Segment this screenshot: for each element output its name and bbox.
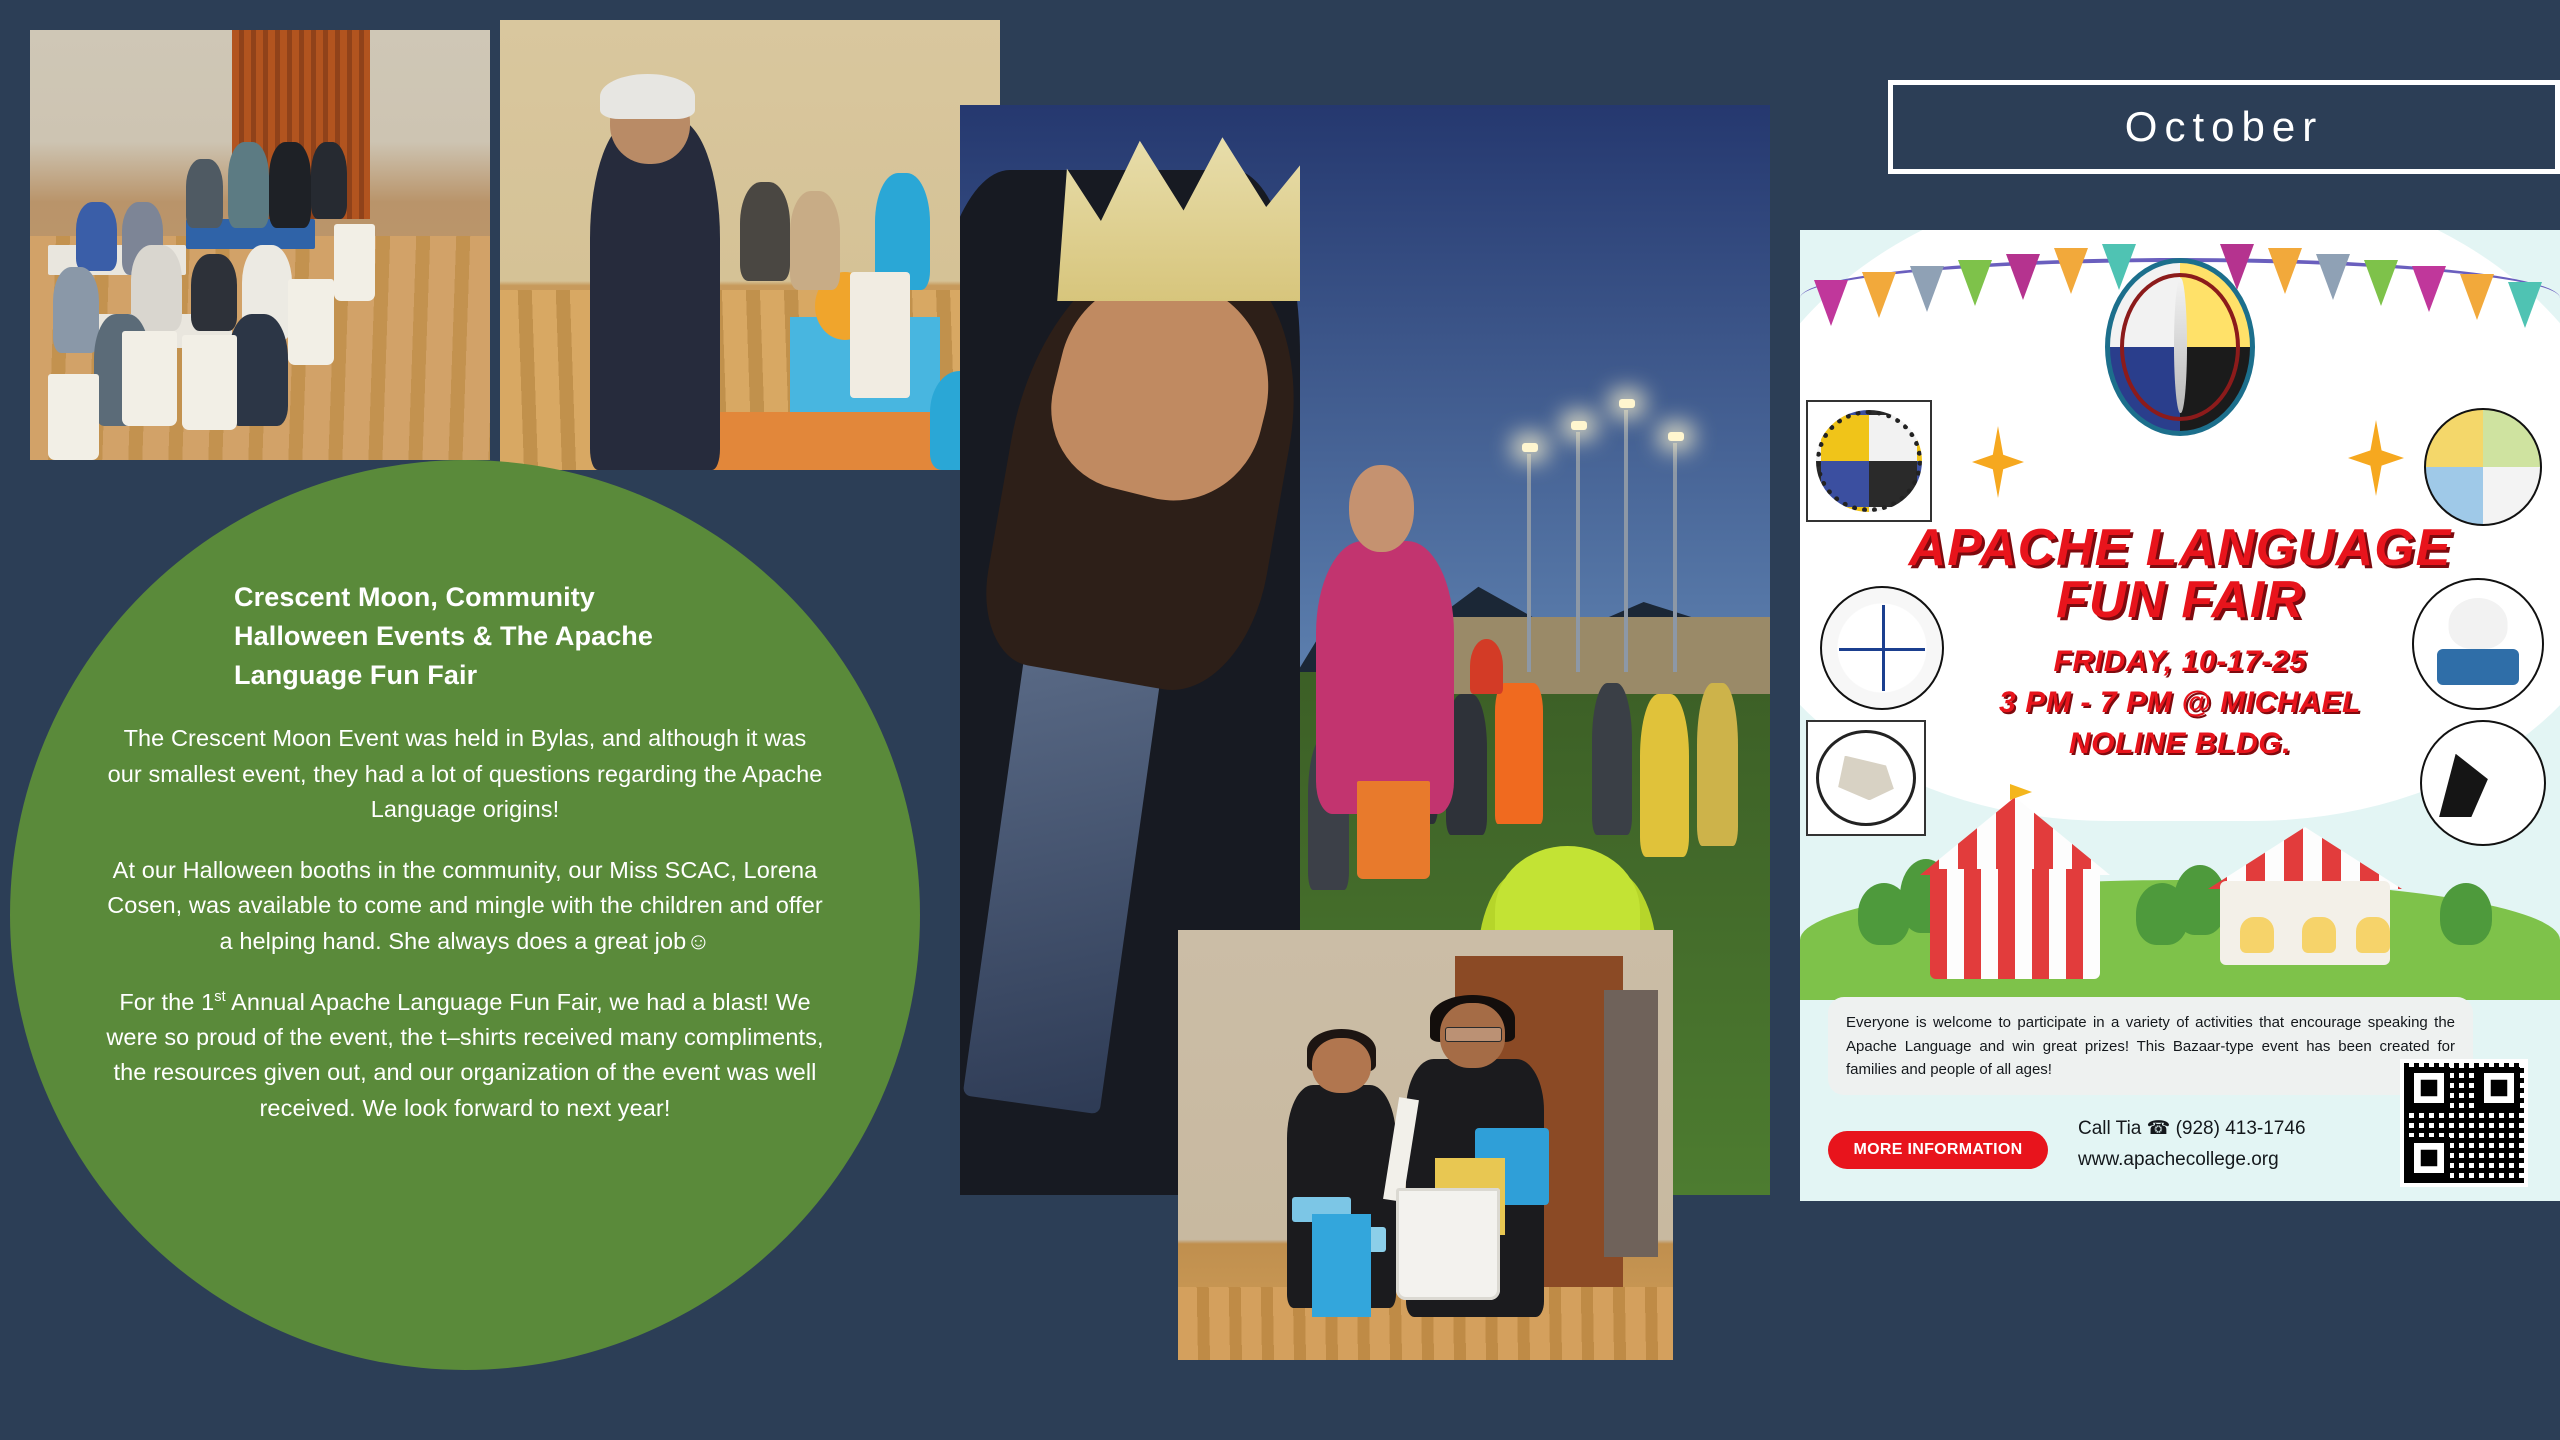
booth-attendee xyxy=(790,191,840,290)
gym-attendee xyxy=(228,142,269,228)
crowd-figure xyxy=(1640,694,1689,858)
gym-attendee xyxy=(311,142,348,219)
gym-chair xyxy=(334,224,375,301)
attendee-woman-head xyxy=(1312,1038,1371,1094)
contact-website[interactable]: www.apachecollege.org xyxy=(2078,1145,2306,1175)
booth-attendee xyxy=(740,182,790,281)
flyer-bottom-bar xyxy=(1800,1201,2560,1215)
flyer-contact: Call Tia ☎ (928) 413-1746 www.apachecoll… xyxy=(2078,1114,2306,1175)
tree-icon xyxy=(2174,865,2226,935)
gym-attendee xyxy=(131,245,182,331)
story-circle: Crescent Moon, Community Halloween Event… xyxy=(10,460,920,1370)
carousel-roof xyxy=(2208,827,2402,889)
photo-booth-elder-visiting xyxy=(500,20,1000,470)
light-pole xyxy=(1624,410,1628,672)
booth-elder-suit xyxy=(590,119,720,470)
flyer-description-box: Everyone is welcome to participate in a … xyxy=(1828,997,2473,1095)
photo-fun-fair-prize-winners xyxy=(1178,930,1673,1360)
gym-chair xyxy=(182,335,237,430)
carousel-horse-icon xyxy=(2302,917,2336,953)
flyer-title-line-1: APACHE LANGUAGE xyxy=(1800,518,2560,578)
gym-attendee xyxy=(53,267,99,353)
crowd-figure xyxy=(1697,683,1738,847)
stadium-light xyxy=(1571,421,1587,430)
month-banner: October xyxy=(1888,80,2560,174)
san-carlos-apache-college-seal-icon xyxy=(2105,258,2255,436)
crowd-figure xyxy=(1592,683,1633,836)
gym-attendee xyxy=(186,159,223,228)
more-information-label: MORE INFORMATION xyxy=(1854,1141,2023,1159)
parent-head xyxy=(1349,465,1414,552)
qr-code-icon[interactable] xyxy=(2400,1059,2528,1187)
gym-attendee xyxy=(191,254,237,331)
safety-vest-figure xyxy=(1495,683,1544,825)
apache-language-fun-fair-flyer: APACHE LANGUAGE FUN FAIR FRIDAY, 10-17-2… xyxy=(1800,230,2560,1215)
eyeglasses xyxy=(1445,1027,1501,1042)
seal-feather xyxy=(2174,278,2187,412)
booth-chair xyxy=(850,272,910,398)
story-paragraph-1: The Crescent Moon Event was held in Byla… xyxy=(106,721,824,827)
stadium-light xyxy=(1668,432,1684,441)
story-heading: Crescent Moon, Community Halloween Event… xyxy=(234,578,714,695)
light-pole xyxy=(1673,443,1677,672)
story-paragraph-2: At our Halloween booths in the community… xyxy=(106,853,824,959)
stadium-light xyxy=(1619,399,1635,408)
flyer-time: 3 PM - 7 PM @ MICHAEL xyxy=(1800,686,2560,720)
gym-chair xyxy=(288,279,334,365)
story-paragraph-3-prefix: For the 1 xyxy=(119,989,214,1015)
shilgozhoo-logo-icon xyxy=(2424,408,2542,526)
month-banner-inner: October xyxy=(1893,85,2555,169)
newsletter-page: Crescent Moon, Community Halloween Event… xyxy=(0,0,2560,1440)
light-pole xyxy=(1527,454,1531,672)
stadium-light xyxy=(1522,443,1538,452)
flyer-description: Everyone is welcome to participate in a … xyxy=(1846,1011,2455,1081)
gym-chair xyxy=(122,331,177,426)
qr-finder xyxy=(2408,1067,2450,1109)
story-paragraph-3: For the 1st Annual Apache Language Fun F… xyxy=(106,985,824,1126)
circus-tent-icon xyxy=(1930,869,2100,979)
carousel-horse-icon xyxy=(2240,917,2274,953)
gym-chair xyxy=(48,374,99,460)
door-opening xyxy=(1604,990,1658,1257)
month-label: October xyxy=(2125,103,2323,151)
hard-hat xyxy=(1470,639,1502,694)
gym-attendee xyxy=(269,142,310,228)
booth-elder-hair xyxy=(600,74,695,119)
tree-icon xyxy=(2440,883,2492,945)
trick-or-treat-basket xyxy=(1357,781,1430,879)
contact-phone: Call Tia ☎ (928) 413-1746 xyxy=(2078,1114,2306,1144)
flyer-date: FRIDAY, 10-17-25 xyxy=(1800,645,2560,679)
parent-pink-hoodie xyxy=(1316,541,1454,814)
light-pole xyxy=(1576,432,1580,672)
qr-finder xyxy=(2408,1137,2450,1179)
flyer-venue: NOLINE BLDG. xyxy=(1800,727,2560,761)
prize-laundry-basket xyxy=(1396,1188,1500,1300)
blue-tote-bag xyxy=(1312,1214,1371,1317)
ordinal-suffix: st xyxy=(214,989,226,1005)
flyer-title-line-2: FUN FAIR xyxy=(1800,570,2560,630)
qr-finder xyxy=(2478,1067,2520,1109)
carousel-horse-icon xyxy=(2356,917,2390,953)
photo-crescent-moon-gym-event xyxy=(30,30,490,460)
more-information-button[interactable]: MORE INFORMATION xyxy=(1828,1131,2048,1169)
apache-language-preservation-logo-icon xyxy=(1806,400,1932,522)
gym-attendee xyxy=(76,202,117,271)
